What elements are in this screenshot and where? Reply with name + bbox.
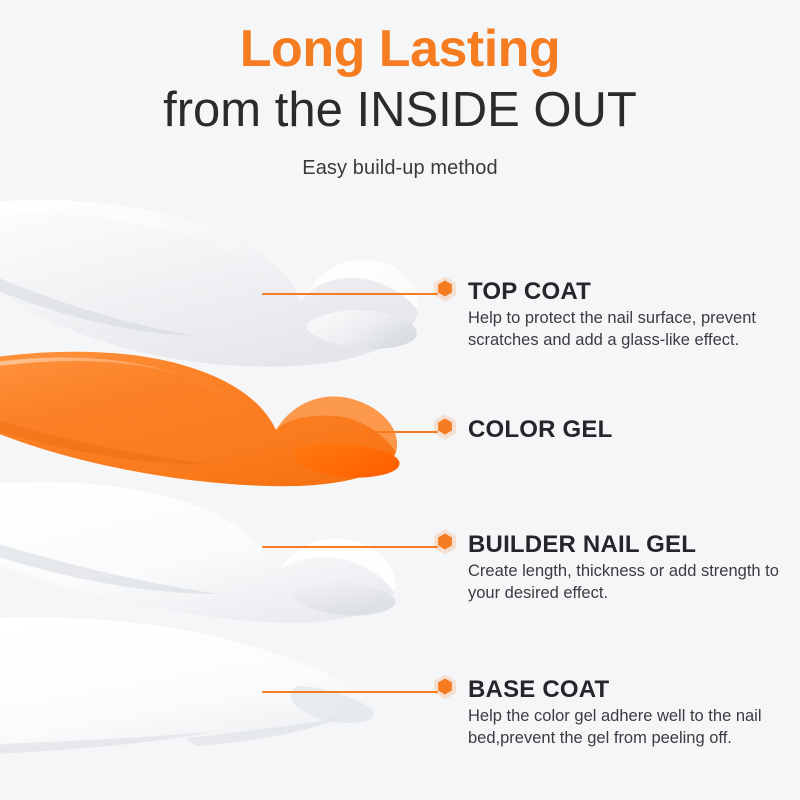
leader-line-builder-nail-gel bbox=[262, 546, 438, 548]
leader-line-top-coat bbox=[262, 293, 438, 295]
leader-line-base-coat bbox=[262, 691, 438, 693]
layer-shape-builder-nail-gel bbox=[0, 482, 396, 623]
headline-secondary: from the INSIDE OUT bbox=[0, 83, 800, 138]
headline-subtitle: Easy build-up method bbox=[0, 157, 800, 180]
layer-shape-base-coat bbox=[0, 617, 374, 756]
callout-builder-nail-gel: BUILDER NAIL GEL Create length, thicknes… bbox=[430, 532, 788, 605]
nail-layers-illustration bbox=[0, 198, 440, 800]
callout-title-base-coat: BASE COAT bbox=[468, 677, 788, 703]
callout-title-top-coat: TOP COAT bbox=[468, 279, 788, 305]
callout-description-base-coat: Help the color gel adhere well to the na… bbox=[468, 706, 788, 750]
header: Long Lasting from the INSIDE OUT Easy bu… bbox=[0, 0, 800, 180]
hexagon-bullet-icon bbox=[430, 274, 460, 304]
callout-title-color-gel: COLOR GEL bbox=[468, 417, 612, 443]
callout-title-builder-nail-gel: BUILDER NAIL GEL bbox=[468, 532, 788, 558]
callout-description-top-coat: Help to protect the nail surface, preven… bbox=[468, 308, 788, 352]
hexagon-bullet-icon bbox=[430, 672, 460, 702]
headline-primary: Long Lasting bbox=[0, 22, 800, 77]
callout-description-builder-nail-gel: Create length, thickness or add strength… bbox=[468, 561, 788, 605]
callout-base-coat: BASE COAT Help the color gel adhere well… bbox=[430, 677, 788, 750]
infographic-poster: Long Lasting from the INSIDE OUT Easy bu… bbox=[0, 0, 800, 800]
hexagon-bullet-icon bbox=[430, 412, 460, 442]
hexagon-bullet-icon bbox=[430, 527, 460, 557]
callout-color-gel: COLOR GEL bbox=[430, 417, 612, 443]
layer-shape-color-gel bbox=[0, 352, 400, 486]
callout-top-coat: TOP COAT Help to protect the nail surfac… bbox=[430, 279, 788, 352]
layer-shape-top-coat bbox=[0, 200, 418, 367]
leader-line-color-gel bbox=[368, 431, 438, 433]
